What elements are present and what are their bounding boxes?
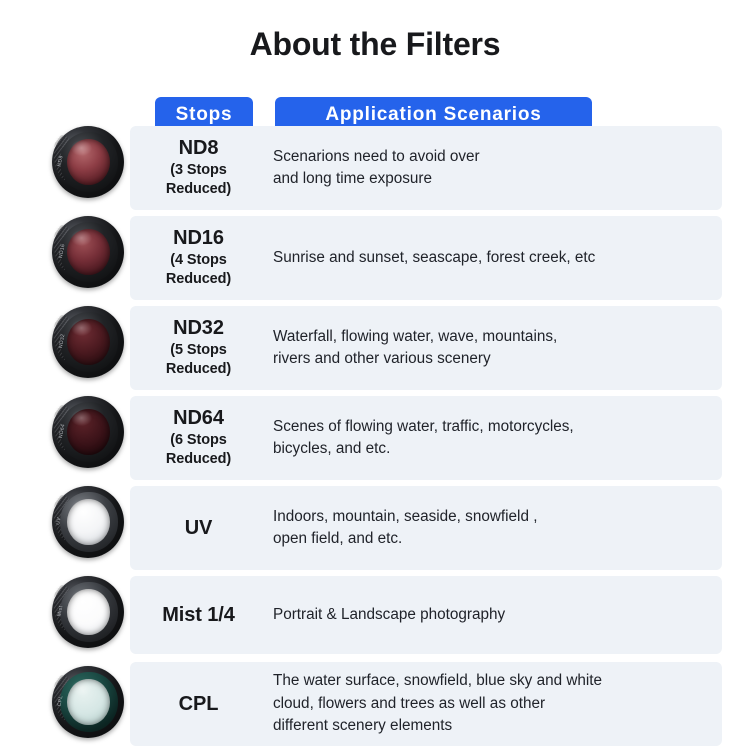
filter-lens-icon: ND64 [52,396,124,468]
stops-filter-name: CPL [179,693,219,716]
table-row: ND64ND64(6 StopsReduced)Scenes of flowin… [0,396,750,480]
scenario-text-line: cloud, flowers and trees as well as othe… [273,693,715,716]
cell-stops: ND8(3 StopsReduced) [136,126,261,210]
stops-filter-name: Mist 1/4 [162,604,235,627]
stops-reduction-line-1: (3 Stops [170,161,226,180]
table-row: CPLCPLThe water surface, snowfield, blue… [0,662,750,746]
filter-lens-icon: ND16 [52,216,124,288]
stops-filter-name: ND32 [173,317,224,340]
scenario-text-line: The water surface, snowfield, blue sky a… [273,670,715,693]
stops-reduction-line-1: (5 Stops [170,341,226,360]
scenario-text-line: Indoors, mountain, seaside, snowfield , [273,506,715,529]
filter-lens-icon: ND32 [52,306,124,378]
filter-lens-icon: Mist [52,576,124,648]
scenario-text-line: Scenarions need to avoid over [273,146,715,169]
stops-reduction-line-1: (4 Stops [170,251,226,270]
filter-info-page: About the Filters Stops Application Scen… [0,0,750,750]
table-row: ND16ND16(4 StopsReduced)Sunrise and suns… [0,216,750,300]
cell-application-scenario: Scenarions need to avoid overand long ti… [273,126,715,210]
stops-reduction-line-2: Reduced) [166,360,231,379]
lens-engraved-label: UV [55,516,62,525]
scenario-text-line: and long time exposure [273,168,715,191]
stops-filter-name: ND64 [173,407,224,430]
stops-filter-name: ND16 [173,227,224,250]
cell-application-scenario: Sunrise and sunset, seascape, forest cre… [273,216,715,300]
filter-lens-icon: UV [52,486,124,558]
scenario-text-line: Scenes of flowing water, traffic, motorc… [273,416,715,439]
table-row: UVUVIndoors, mountain, seaside, snowfiel… [0,486,750,570]
scenario-text-line: Waterfall, flowing water, wave, mountain… [273,326,715,349]
filter-lens-icon: ND8 [52,126,124,198]
stops-reduction-line-2: Reduced) [166,270,231,289]
scenario-text-line: different scenery elements [273,715,715,738]
cell-application-scenario: The water surface, snowfield, blue sky a… [273,662,715,746]
cell-stops: Mist 1/4 [136,576,261,654]
cell-application-scenario: Waterfall, flowing water, wave, mountain… [273,306,715,390]
cell-stops: ND16(4 StopsReduced) [136,216,261,300]
cell-application-scenario: Indoors, mountain, seaside, snowfield ,o… [273,486,715,570]
scenario-text-line: rivers and other various scenery [273,348,715,371]
stops-filter-name: UV [185,517,213,540]
scenario-text-line: Sunrise and sunset, seascape, forest cre… [273,247,715,270]
cell-application-scenario: Scenes of flowing water, traffic, motorc… [273,396,715,480]
filter-table-body: ND8ND8(3 StopsReduced)Scenarions need to… [0,0,750,750]
scenario-text-line: bicycles, and etc. [273,438,715,461]
cell-stops: ND32(5 StopsReduced) [136,306,261,390]
cell-stops: ND64(6 StopsReduced) [136,396,261,480]
filter-lens-icon: CPL [52,666,124,738]
stops-reduction-line-2: Reduced) [166,450,231,469]
scenario-text-line: Portrait & Landscape photography [273,604,715,627]
stops-reduction-line-2: Reduced) [166,180,231,199]
stops-filter-name: ND8 [179,137,219,160]
table-row: MistMist 1/4Portrait & Landscape photogr… [0,576,750,654]
table-row: ND8ND8(3 StopsReduced)Scenarions need to… [0,126,750,210]
cell-stops: CPL [136,662,261,746]
cell-application-scenario: Portrait & Landscape photography [273,576,715,654]
stops-reduction-line-1: (6 Stops [170,431,226,450]
table-row: ND32ND32(5 StopsReduced)Waterfall, flowi… [0,306,750,390]
cell-stops: UV [136,486,261,570]
scenario-text-line: open field, and etc. [273,528,715,551]
